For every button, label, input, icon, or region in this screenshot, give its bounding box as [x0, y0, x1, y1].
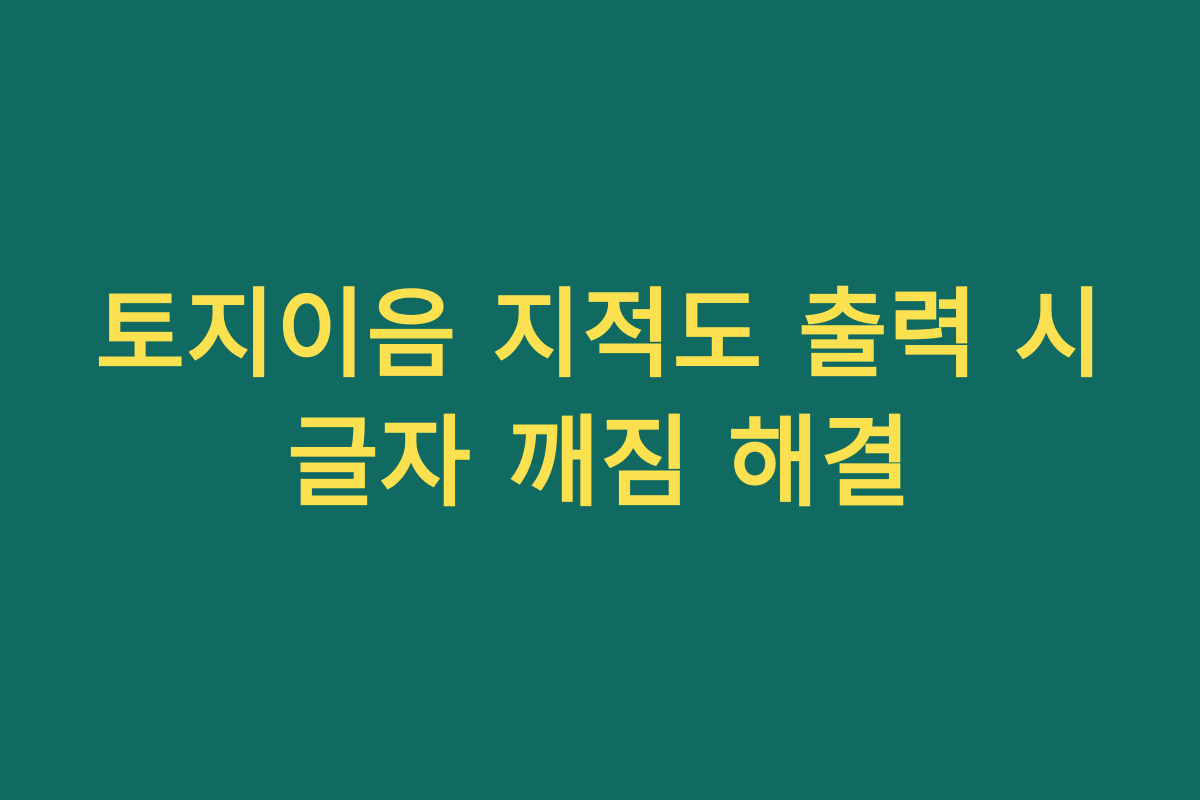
- page-title-line-2: 글자 깨짐 해결: [288, 400, 913, 529]
- page-title: 토지이음 지적도 출력 시 글자 깨짐 해결: [96, 272, 1105, 529]
- page-title-line-1: 토지이음 지적도 출력 시: [96, 272, 1105, 398]
- title-card: 토지이음 지적도 출력 시 글자 깨짐 해결: [0, 0, 1200, 800]
